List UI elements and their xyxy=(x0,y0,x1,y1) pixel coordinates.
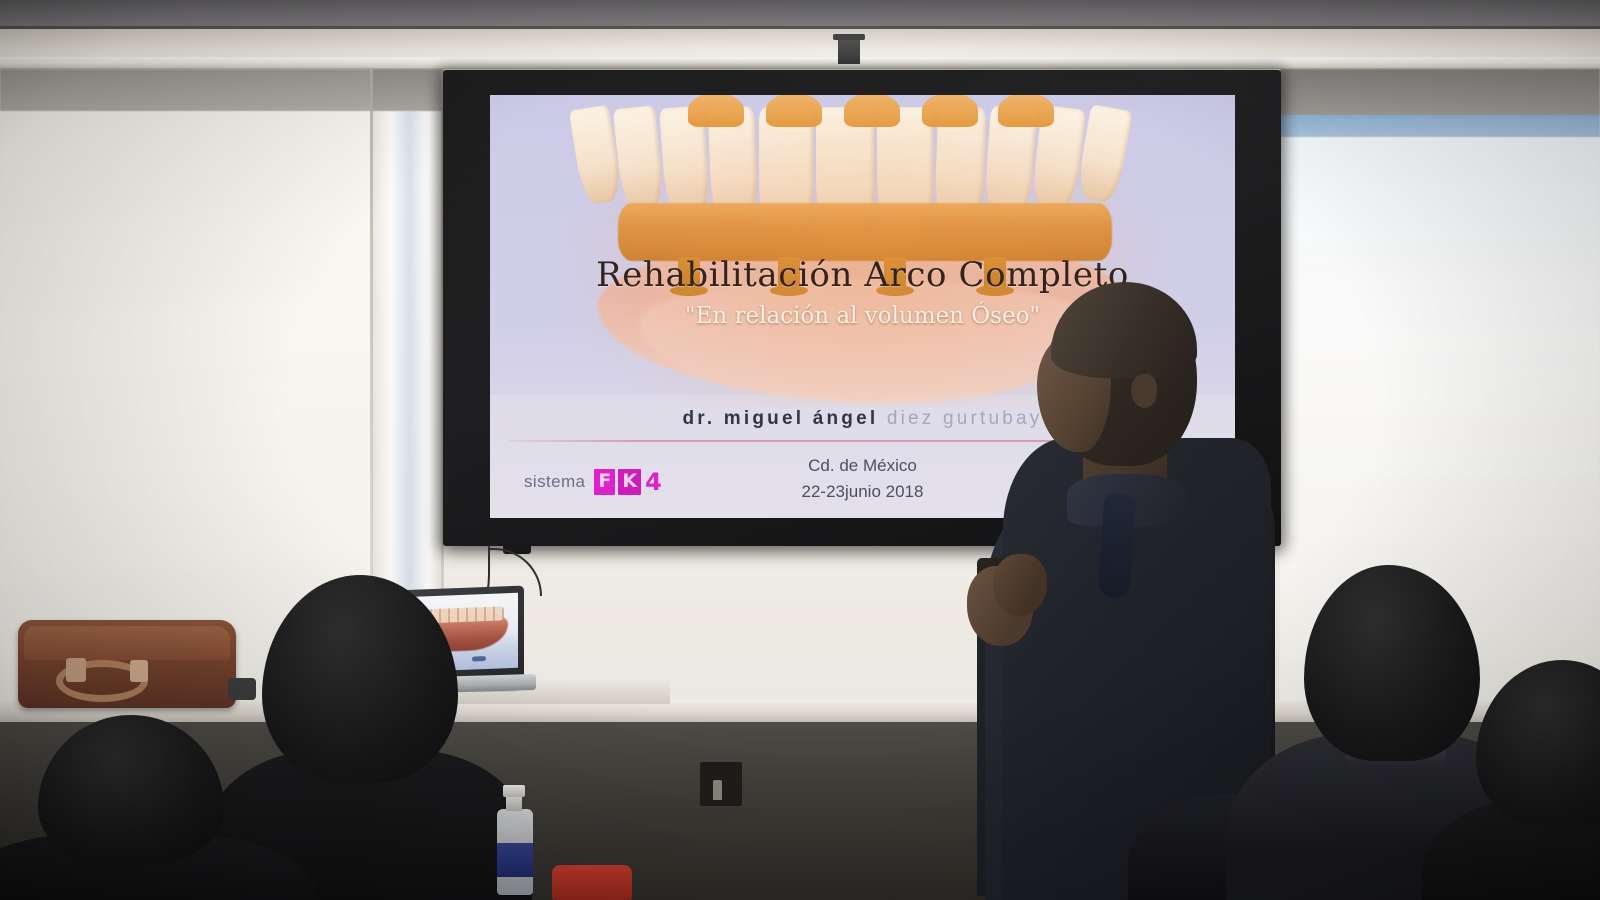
wall-outlet-center xyxy=(700,762,742,806)
venue-city: Cd. de México xyxy=(808,456,917,475)
audience-head xyxy=(1476,660,1600,826)
audience-member-lower-left xyxy=(0,715,290,900)
presenter-hand xyxy=(993,554,1047,616)
window-center-header xyxy=(372,69,444,111)
bag-flap xyxy=(24,626,230,660)
window-left-header xyxy=(0,69,372,111)
author-name-strong: dr. miguel ángel xyxy=(682,408,878,429)
audience-head xyxy=(262,575,458,783)
ceiling-mount-bracket-icon xyxy=(838,38,860,64)
bag-buckle xyxy=(130,660,148,682)
bottle-label xyxy=(497,843,533,877)
presenter-ear xyxy=(1131,374,1157,408)
sky-strip xyxy=(1280,115,1600,137)
red-object-on-table xyxy=(552,865,632,900)
bottle-neck xyxy=(506,797,522,811)
presenter-hair xyxy=(1051,282,1197,378)
presentation-photo-scene: Rehabilitación Arco Completo "En relació… xyxy=(0,0,1600,900)
soffit xyxy=(0,29,1600,59)
bottle-cap xyxy=(503,785,525,797)
bag-buckle xyxy=(66,658,86,682)
audience-member-far-right xyxy=(1448,660,1600,900)
water-bottle xyxy=(495,785,535,895)
leather-backpack xyxy=(18,620,236,708)
audience-head xyxy=(38,715,224,865)
window-right-header xyxy=(1280,69,1600,115)
